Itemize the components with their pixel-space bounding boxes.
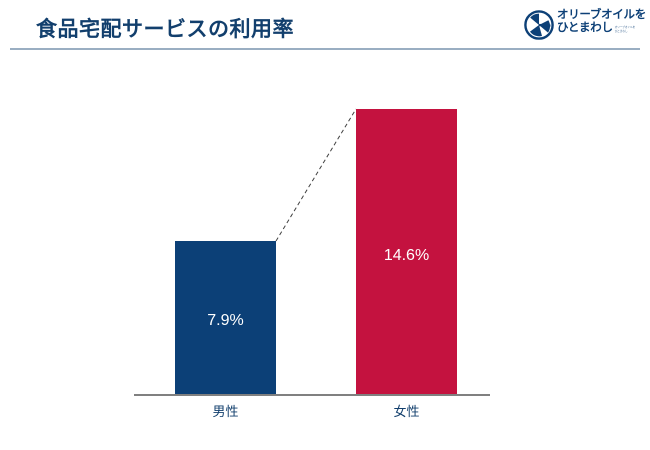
logo-line-1: オリーブオイルを [557, 9, 642, 22]
logo-line-2: ひとまわし [557, 22, 613, 35]
bar-chart: 7.9% 14.6% 男性 女性 [0, 50, 650, 450]
bar-value-male: 7.9% [175, 312, 276, 330]
x-axis-label-female: 女性 [356, 401, 457, 420]
logo-microprint: オリーブオイルを ひとまわし [615, 28, 636, 35]
page-title: 食品宅配サービスの利用率 [36, 13, 294, 43]
bar-value-female: 14.6% [356, 247, 457, 265]
x-axis-line [134, 394, 490, 396]
x-axis-label-male: 男性 [175, 401, 276, 420]
trend-connector-line [0, 50, 650, 450]
olive-oil-circle-icon [524, 10, 554, 40]
plot-area: 7.9% 14.6% 男性 女性 [0, 50, 650, 450]
brand-logo: オリーブオイルを ひとまわし オリーブオイルを ひとまわし [524, 7, 642, 43]
logo-text: オリーブオイルを ひとまわし オリーブオイルを ひとまわし [557, 9, 642, 35]
page-header: 食品宅配サービスの利用率 オリーブオイルを ひとまわし オリーブオイルを ひとま… [0, 0, 650, 50]
